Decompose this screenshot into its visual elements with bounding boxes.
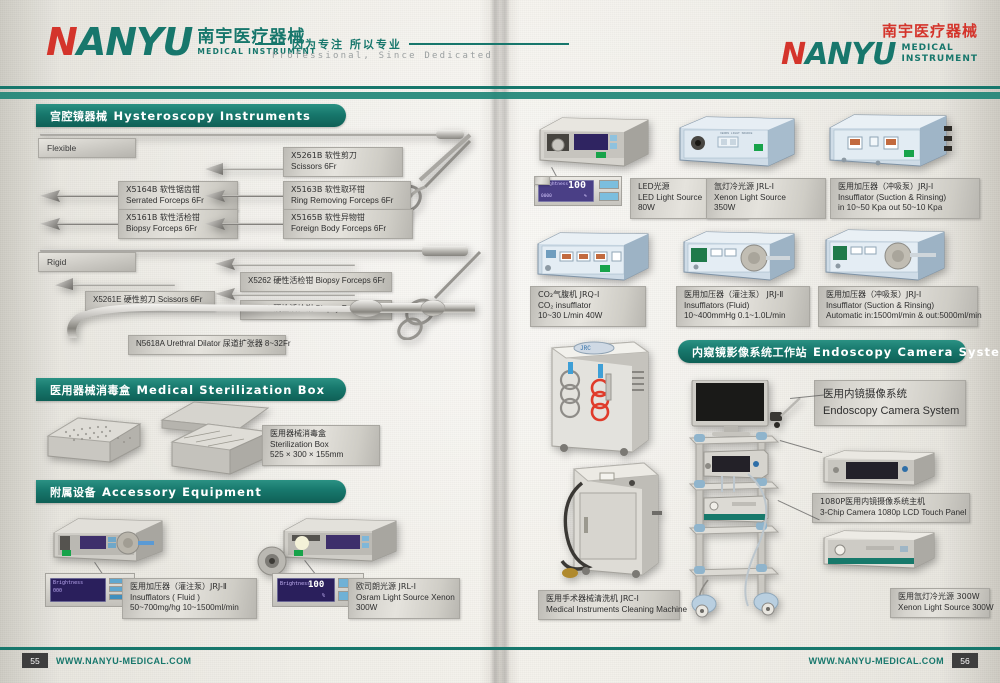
panel-1-label: Brightness xyxy=(53,580,83,586)
caption-acc1-en: Insufflators ( Fluid ) xyxy=(130,593,249,604)
group-label-flexible: Flexible xyxy=(38,138,136,158)
banner-camera-cn: 内窥镜影像系统工作站 xyxy=(692,344,807,360)
caption-acc2-en: Osram Light Source Xenon xyxy=(356,593,452,604)
photo-insufflator-suction-rinsing xyxy=(826,110,962,172)
brand-wordmark: NANYU xyxy=(46,24,192,60)
page-footer: 55 WWW.NANYU-MEDICAL.COM WWW.NANYU-MEDIC… xyxy=(0,647,1000,667)
caption-r2-0-spec: 10~30 L/min 40W xyxy=(538,311,638,322)
caption-ring-en: Ring Removing Forceps 6Fr xyxy=(291,196,403,207)
caption-r1-2-en: Insufflator (Suction & Rinsing) xyxy=(838,193,972,204)
caption-cam2-cn: 1080P医用内镜摄像系统主机 xyxy=(820,497,962,508)
footer-url-left: WWW.NANYU-MEDICAL.COM xyxy=(56,656,191,666)
caption-cam2-en: 3-Chip Camera 1080p LCD Touch Panel xyxy=(820,508,962,519)
caption-insufflator-suction: 医用加压器（冲吸泵）JRJ-Ⅰ Insufflator (Suction & R… xyxy=(830,178,980,219)
caption-r1-1-spec: 350W xyxy=(714,203,818,214)
footer-url-right: WWW.NANYU-MEDICAL.COM xyxy=(809,656,944,666)
caption-cam-main-en: Endoscopy Camera System xyxy=(823,404,957,419)
photo-insufflator-auto xyxy=(822,226,962,284)
page-number-left: 55 xyxy=(22,653,48,668)
caption-xenon-300w: 医用氙灯冷光源 300W Xenon Light Source 300W xyxy=(890,588,990,618)
photo-cleaning-unit-top: JRC xyxy=(536,336,662,461)
caption-co2-insufflator: CO₂气腹机 JRQ-Ⅰ CO₂ insufflator 10~30 L/min… xyxy=(530,286,646,327)
brand-right-first: N xyxy=(781,37,805,72)
svg-text:XENON LIGHT SOURCE: XENON LIGHT SOURCE xyxy=(720,132,753,135)
caption-insufflator-auto: 医用加压器（冲吸泵）JRJ-Ⅰ Insufflator (Suction & R… xyxy=(818,286,978,327)
caption-urethral-dilator-text: N5618A Urethral Dilator 尿道扩张器 8~32Fr xyxy=(136,339,278,350)
caption-r2-1-spec: 10~400mmHg 0.1~1.0L/min xyxy=(684,311,802,322)
brand-right-rest: ANYU xyxy=(805,37,895,72)
svg-text:JRC: JRC xyxy=(580,345,591,352)
photo-rigid-biopsy-5161 xyxy=(215,288,355,300)
caption-1080p-camera: 1080P医用内镜摄像系统主机 3-Chip Camera 1080p LCD … xyxy=(812,493,970,523)
caption-r1-2-cn: 医用加压器（冲吸泵）JRJ-Ⅰ xyxy=(838,182,972,193)
panel-2-label: Brightness xyxy=(280,581,310,587)
banner-sterilization-en: Medical Sterilization Box xyxy=(137,383,326,397)
caption-sterilization-en: Sterilization Box xyxy=(270,440,372,451)
photo-co2-insufflator xyxy=(534,228,664,284)
caption-xenon-light-source: 氙灯冷光源 JRL-Ⅰ Xenon Light Source 350W xyxy=(706,178,826,219)
caption-insufflator-fluid-right: 医用加压器（灌注泵） JRJ-Ⅱ Insufflators (Fluid) 10… xyxy=(676,286,810,327)
brand-right-wordmark: NANYU xyxy=(781,41,896,70)
caption-sterilization-cn: 医用器械消毒盒 xyxy=(270,429,372,440)
slogan-rule-left xyxy=(255,43,285,45)
panel-2-value: 100 xyxy=(308,580,324,590)
panel-3-unit: % xyxy=(584,194,587,199)
caption-r2-1-cn: 医用加压器（灌注泵） JRJ-Ⅱ xyxy=(684,290,802,301)
banner-accessory: 附属设备 Accessory Equipment xyxy=(36,480,346,503)
caption-r2-0-cn: CO₂气腹机 JRQ-Ⅰ xyxy=(538,290,638,301)
caption-cleaning-en: Medical Instruments Cleaning Machine xyxy=(546,605,672,616)
caption-r2-2-spec: Automatic in:1500ml/min & out:5000ml/min xyxy=(826,311,970,322)
caption-acc1-cn: 医用加压器（灌注泵）JRJ-Ⅱ xyxy=(130,582,249,593)
photo-rigid-biopsy-5262 xyxy=(215,258,355,270)
photo-endoscopy-cart xyxy=(682,380,812,620)
banner-accessory-en: Accessory Equipment xyxy=(102,485,262,499)
caption-acc2-cn: 欧司朗光源 JRL-Ⅰ xyxy=(356,582,452,593)
photo-cleaning-machine xyxy=(548,455,664,585)
caption-r2-1-en: Insufflators (Fluid) xyxy=(684,301,802,312)
caption-r2-2-cn: 医用加压器（冲吸泵）JRJ-Ⅰ xyxy=(826,290,970,301)
group-label-rigid: Rigid xyxy=(38,252,136,272)
header-rule-bottom xyxy=(0,92,1000,99)
brand-slogan-row: 因为专注 所以专业 xyxy=(255,36,569,52)
brand-wordmark-rest: ANYU xyxy=(77,20,193,64)
footer-rule xyxy=(0,647,1000,650)
caption-cam3-cn: 医用氙灯冷光源 300W xyxy=(898,592,982,603)
caption-camera-system-main: 医用内镜摄像系统 Endoscopy Camera System xyxy=(814,380,966,426)
banner-camera-en: Endoscopy Camera System xyxy=(813,345,1000,359)
caption-rigid-biopsy-5262-text: X5262 硬性活检钳 Biopsy Forceps 6Fr xyxy=(248,276,384,287)
photo-insufflator-fluid-right xyxy=(680,228,810,284)
slogan-rule-right xyxy=(409,43,569,45)
caption-osram-light-source: 欧司朗光源 JRL-Ⅰ Osram Light Source Xenon 300… xyxy=(348,578,460,619)
brand-right-en1: MEDICAL xyxy=(901,43,978,54)
caption-cleaning-cn: 医用手术器械清洗机 JRC-Ⅰ xyxy=(546,594,672,605)
brand-logo-right: 南宇医疗器械 NANYU MEDICAL INSTRUMENT xyxy=(781,20,978,70)
caption-foreign-cn: X5165B 软性异物钳 xyxy=(291,213,405,224)
page-spine-shadow xyxy=(490,0,510,683)
banner-camera-system: 内窥镜影像系统工作站 Endoscopy Camera System xyxy=(678,340,966,363)
photo-xenon-light-source: XENON LIGHT SOURCE xyxy=(676,112,801,170)
caption-r1-2-spec: in 10~50 Kpa out 50~10 Kpa xyxy=(838,203,972,214)
caption-cleaning-machine: 医用手术器械清洗机 JRC-Ⅰ Medical Instruments Clea… xyxy=(538,590,680,620)
panel-3-sub: 0000 xyxy=(541,194,552,199)
brand-right-en2: INSTRUMENT xyxy=(901,54,978,65)
caption-r1-1-en: Xenon Light Source xyxy=(714,193,818,204)
caption-ring-cn: X5163B 软性取环钳 xyxy=(291,185,403,196)
caption-acc2-spec: 300W xyxy=(356,603,452,614)
caption-ring-removing: X5163B 软性取环钳 Ring Removing Forceps 6Fr xyxy=(283,181,411,211)
page-number-right: 56 xyxy=(952,653,978,668)
caption-r2-0-en: CO₂ insufflator xyxy=(538,301,638,312)
photo-led-light-source xyxy=(536,112,656,170)
slogan-cn: 因为专注 所以专业 xyxy=(292,36,402,52)
caption-r2-2-en: Insufflator (Suction & Rinsing) xyxy=(826,301,970,312)
caption-urethral-dilator: N5618A Urethral Dilator 尿道扩张器 8~32Fr xyxy=(128,335,286,355)
caption-foreign-en: Foreign Body Forceps 6Fr xyxy=(291,224,405,235)
banner-hysteroscopy: 宫腔镜器械 Hysteroscopy Instruments xyxy=(36,104,346,127)
panel-1-value: 000 xyxy=(53,588,62,594)
caption-sterilization-dims: 525 × 300 × 155mm xyxy=(270,450,372,461)
photo-rigid-scissors xyxy=(55,278,175,290)
header-rule-top xyxy=(0,86,1000,89)
caption-foreign-body: X5165B 软性异物钳 Foreign Body Forceps 6Fr xyxy=(283,209,413,239)
banner-sterilization-cn: 医用器械消毒盒 xyxy=(50,382,131,398)
photo-1080p-camera xyxy=(820,448,946,488)
catalog-spread: NANYU 南宇医疗器械 MEDICAL INSTRUMENT 因为专注 所以专… xyxy=(0,0,1000,683)
slogan-en: Professional, Since Dedicated xyxy=(272,51,493,61)
banner-accessory-cn: 附属设备 xyxy=(50,484,96,500)
brand-wordmark-first: N xyxy=(46,20,77,64)
photo-osram-light-source xyxy=(280,513,400,565)
banner-hysteroscopy-cn: 宫腔镜器械 xyxy=(50,108,108,124)
photo-insufflator-fluid xyxy=(50,513,165,565)
caption-sterilization-box: 医用器械消毒盒 Sterilization Box 525 × 300 × 15… xyxy=(262,425,380,466)
caption-cam3-en: Xenon Light Source 300W xyxy=(898,603,982,614)
photo-sterilization-box-open xyxy=(156,398,276,478)
photo-sterilization-box-closed xyxy=(44,408,144,470)
panel-3-value: 100 xyxy=(568,180,586,191)
page-header: NANYU 南宇医疗器械 MEDICAL INSTRUMENT 因为专注 所以专… xyxy=(0,18,1000,74)
panel-2-unit: % xyxy=(322,593,325,599)
caption-cam-main-cn: 医用内镜摄像系统 xyxy=(823,388,957,402)
caption-acc1-spec: 50~700mg/hg 10~1500ml/min xyxy=(130,603,249,614)
caption-r1-1-cn: 氙灯冷光源 JRL-Ⅰ xyxy=(714,182,818,193)
photo-xenon-300w xyxy=(820,528,946,572)
banner-hysteroscopy-en: Hysteroscopy Instruments xyxy=(114,109,312,123)
caption-insufflator-fluid: 医用加压器（灌注泵）JRJ-Ⅱ Insufflators ( Fluid ) 5… xyxy=(122,578,257,619)
